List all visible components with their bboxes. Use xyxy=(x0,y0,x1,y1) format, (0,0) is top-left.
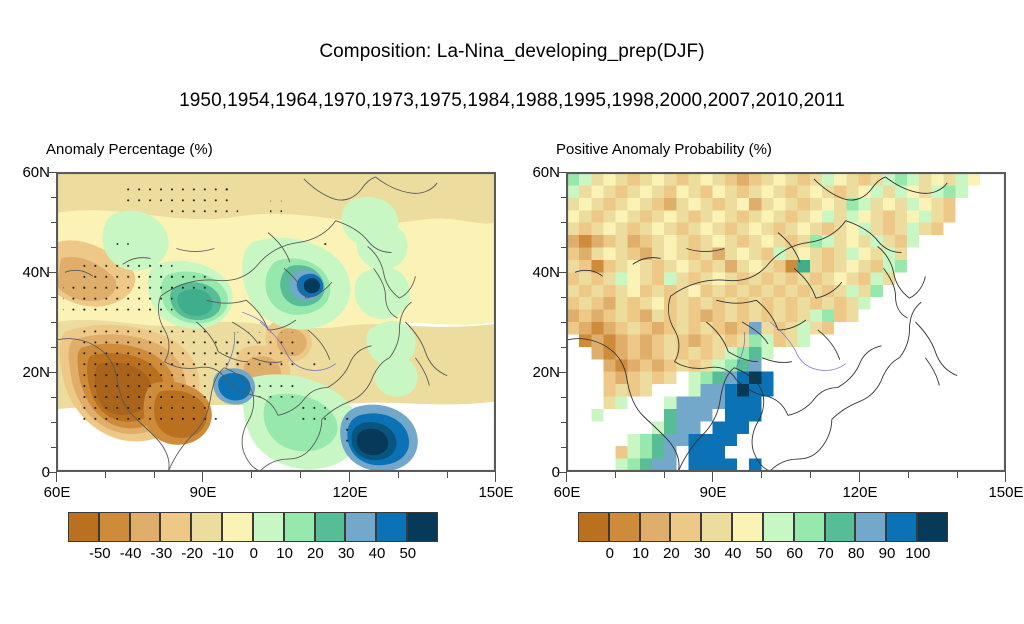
x-tick-major xyxy=(712,472,713,482)
x-axis-label-60e: 60E xyxy=(22,484,92,501)
colorbar-anomaly-percentage: -50 -40 -30 -20 -10 0 10 20 30 40 50 xyxy=(2,512,498,572)
y-axis-label-20n: 20N xyxy=(4,364,50,381)
panel-anomaly-percentage: Anomaly Percentage (%) xyxy=(2,141,498,561)
x-tick-minor xyxy=(957,472,958,478)
colorbar-swatches-right[interactable] xyxy=(578,512,948,542)
y-axis-label-0: 0 xyxy=(514,464,560,481)
colorbar-swatch xyxy=(855,512,886,542)
y-tick-minor xyxy=(51,297,57,298)
colorbar-tick-left: 50 xyxy=(383,545,433,562)
y-axis-label-20n: 20N xyxy=(514,364,560,381)
x-axis-label-90e: 90E xyxy=(168,484,238,501)
figure-title: Composition: La-Nina_developing_prep(DJF… xyxy=(0,41,1024,63)
colorbar-positive-anomaly-probability: 0 10 20 30 40 50 60 70 80 90 100 xyxy=(512,512,1008,572)
y-tick-minor xyxy=(51,197,57,198)
y-axis-label-60n: 60N xyxy=(4,164,50,181)
panel-positive-anomaly-probability: Positive Anomaly Probability (%) xyxy=(512,141,1008,561)
colorbar-swatch xyxy=(886,512,917,542)
y-tick-minor xyxy=(561,247,567,248)
panel-label-positive-anomaly-probability: Positive Anomaly Probability (%) xyxy=(556,141,772,158)
colorbar-swatch xyxy=(315,512,346,542)
x-tick-minor xyxy=(105,472,106,478)
y-tick-major xyxy=(557,272,567,273)
x-tick-minor xyxy=(664,472,665,478)
y-tick-major xyxy=(47,172,57,173)
x-tick-minor xyxy=(251,472,252,478)
y-tick-minor xyxy=(51,322,57,323)
figure-subtitle-years: 1950,1954,1964,1970,1973,1975,1984,1988,… xyxy=(0,90,1024,112)
colorbar-swatch xyxy=(222,512,253,542)
x-tick-minor xyxy=(615,472,616,478)
colorbar-swatch xyxy=(284,512,315,542)
y-tick-minor xyxy=(561,322,567,323)
colorbar-swatch xyxy=(191,512,222,542)
colorbar-swatch xyxy=(160,512,191,542)
colorbar-swatch xyxy=(345,512,376,542)
colorbar-swatch xyxy=(253,512,284,542)
panel-label-anomaly-percentage: Anomaly Percentage (%) xyxy=(46,141,213,158)
map-plot-anomaly-percentage[interactable] xyxy=(56,172,496,472)
x-tick-minor xyxy=(300,472,301,478)
colorbar-swatch xyxy=(640,512,671,542)
y-tick-major xyxy=(557,372,567,373)
x-tick-major xyxy=(56,472,57,482)
x-tick-minor xyxy=(398,472,399,478)
x-axis-label-60e: 60E xyxy=(532,484,602,501)
x-tick-major xyxy=(859,472,860,482)
y-tick-minor xyxy=(51,222,57,223)
colorbar-swatch xyxy=(794,512,825,542)
map-render-probability xyxy=(567,173,1005,471)
colorbar-swatch xyxy=(99,512,130,542)
colorbar-swatch xyxy=(670,512,701,542)
y-tick-major xyxy=(47,272,57,273)
x-tick-minor xyxy=(908,472,909,478)
colorbar-swatch xyxy=(68,512,99,542)
y-tick-minor xyxy=(561,447,567,448)
colorbar-swatch xyxy=(407,512,438,542)
x-axis-label-90e: 90E xyxy=(678,484,748,501)
x-tick-major xyxy=(1005,472,1006,482)
y-tick-minor xyxy=(51,347,57,348)
x-tick-minor xyxy=(761,472,762,478)
colorbar-swatch xyxy=(701,512,732,542)
y-tick-minor xyxy=(561,222,567,223)
colorbar-swatch xyxy=(130,512,161,542)
map-render-anomaly xyxy=(57,173,495,471)
y-axis-label-60n: 60N xyxy=(514,164,560,181)
x-tick-minor xyxy=(810,472,811,478)
y-tick-major xyxy=(47,372,57,373)
y-tick-minor xyxy=(51,397,57,398)
figure-canvas: Composition: La-Nina_developing_prep(DJF… xyxy=(0,0,1024,624)
x-axis-label-150e: 150E xyxy=(971,484,1024,501)
x-tick-minor xyxy=(154,472,155,478)
y-tick-major xyxy=(557,172,567,173)
y-axis-label-40n: 40N xyxy=(4,264,50,281)
y-tick-minor xyxy=(561,297,567,298)
y-tick-minor xyxy=(51,247,57,248)
x-axis-label-120e: 120E xyxy=(825,484,895,501)
x-axis-label-120e: 120E xyxy=(315,484,385,501)
colorbar-swatch xyxy=(376,512,407,542)
y-tick-minor xyxy=(561,397,567,398)
y-tick-minor xyxy=(51,447,57,448)
colorbar-swatches-left[interactable] xyxy=(68,512,438,542)
x-tick-major xyxy=(495,472,496,482)
colorbar-swatch xyxy=(763,512,794,542)
y-tick-minor xyxy=(561,197,567,198)
colorbar-swatch xyxy=(578,512,609,542)
y-tick-minor xyxy=(51,422,57,423)
map-plot-positive-anomaly-probability[interactable] xyxy=(566,172,1006,472)
colorbar-swatch xyxy=(917,512,948,542)
x-tick-major xyxy=(202,472,203,482)
colorbar-tick-right: 100 xyxy=(893,545,943,562)
x-tick-major xyxy=(566,472,567,482)
y-tick-minor xyxy=(561,347,567,348)
y-tick-minor xyxy=(561,422,567,423)
colorbar-swatch xyxy=(609,512,640,542)
y-axis-label-40n: 40N xyxy=(514,264,560,281)
colorbar-swatch xyxy=(732,512,763,542)
colorbar-swatch xyxy=(825,512,856,542)
x-tick-minor xyxy=(447,472,448,478)
y-axis-label-0: 0 xyxy=(4,464,50,481)
x-tick-major xyxy=(349,472,350,482)
